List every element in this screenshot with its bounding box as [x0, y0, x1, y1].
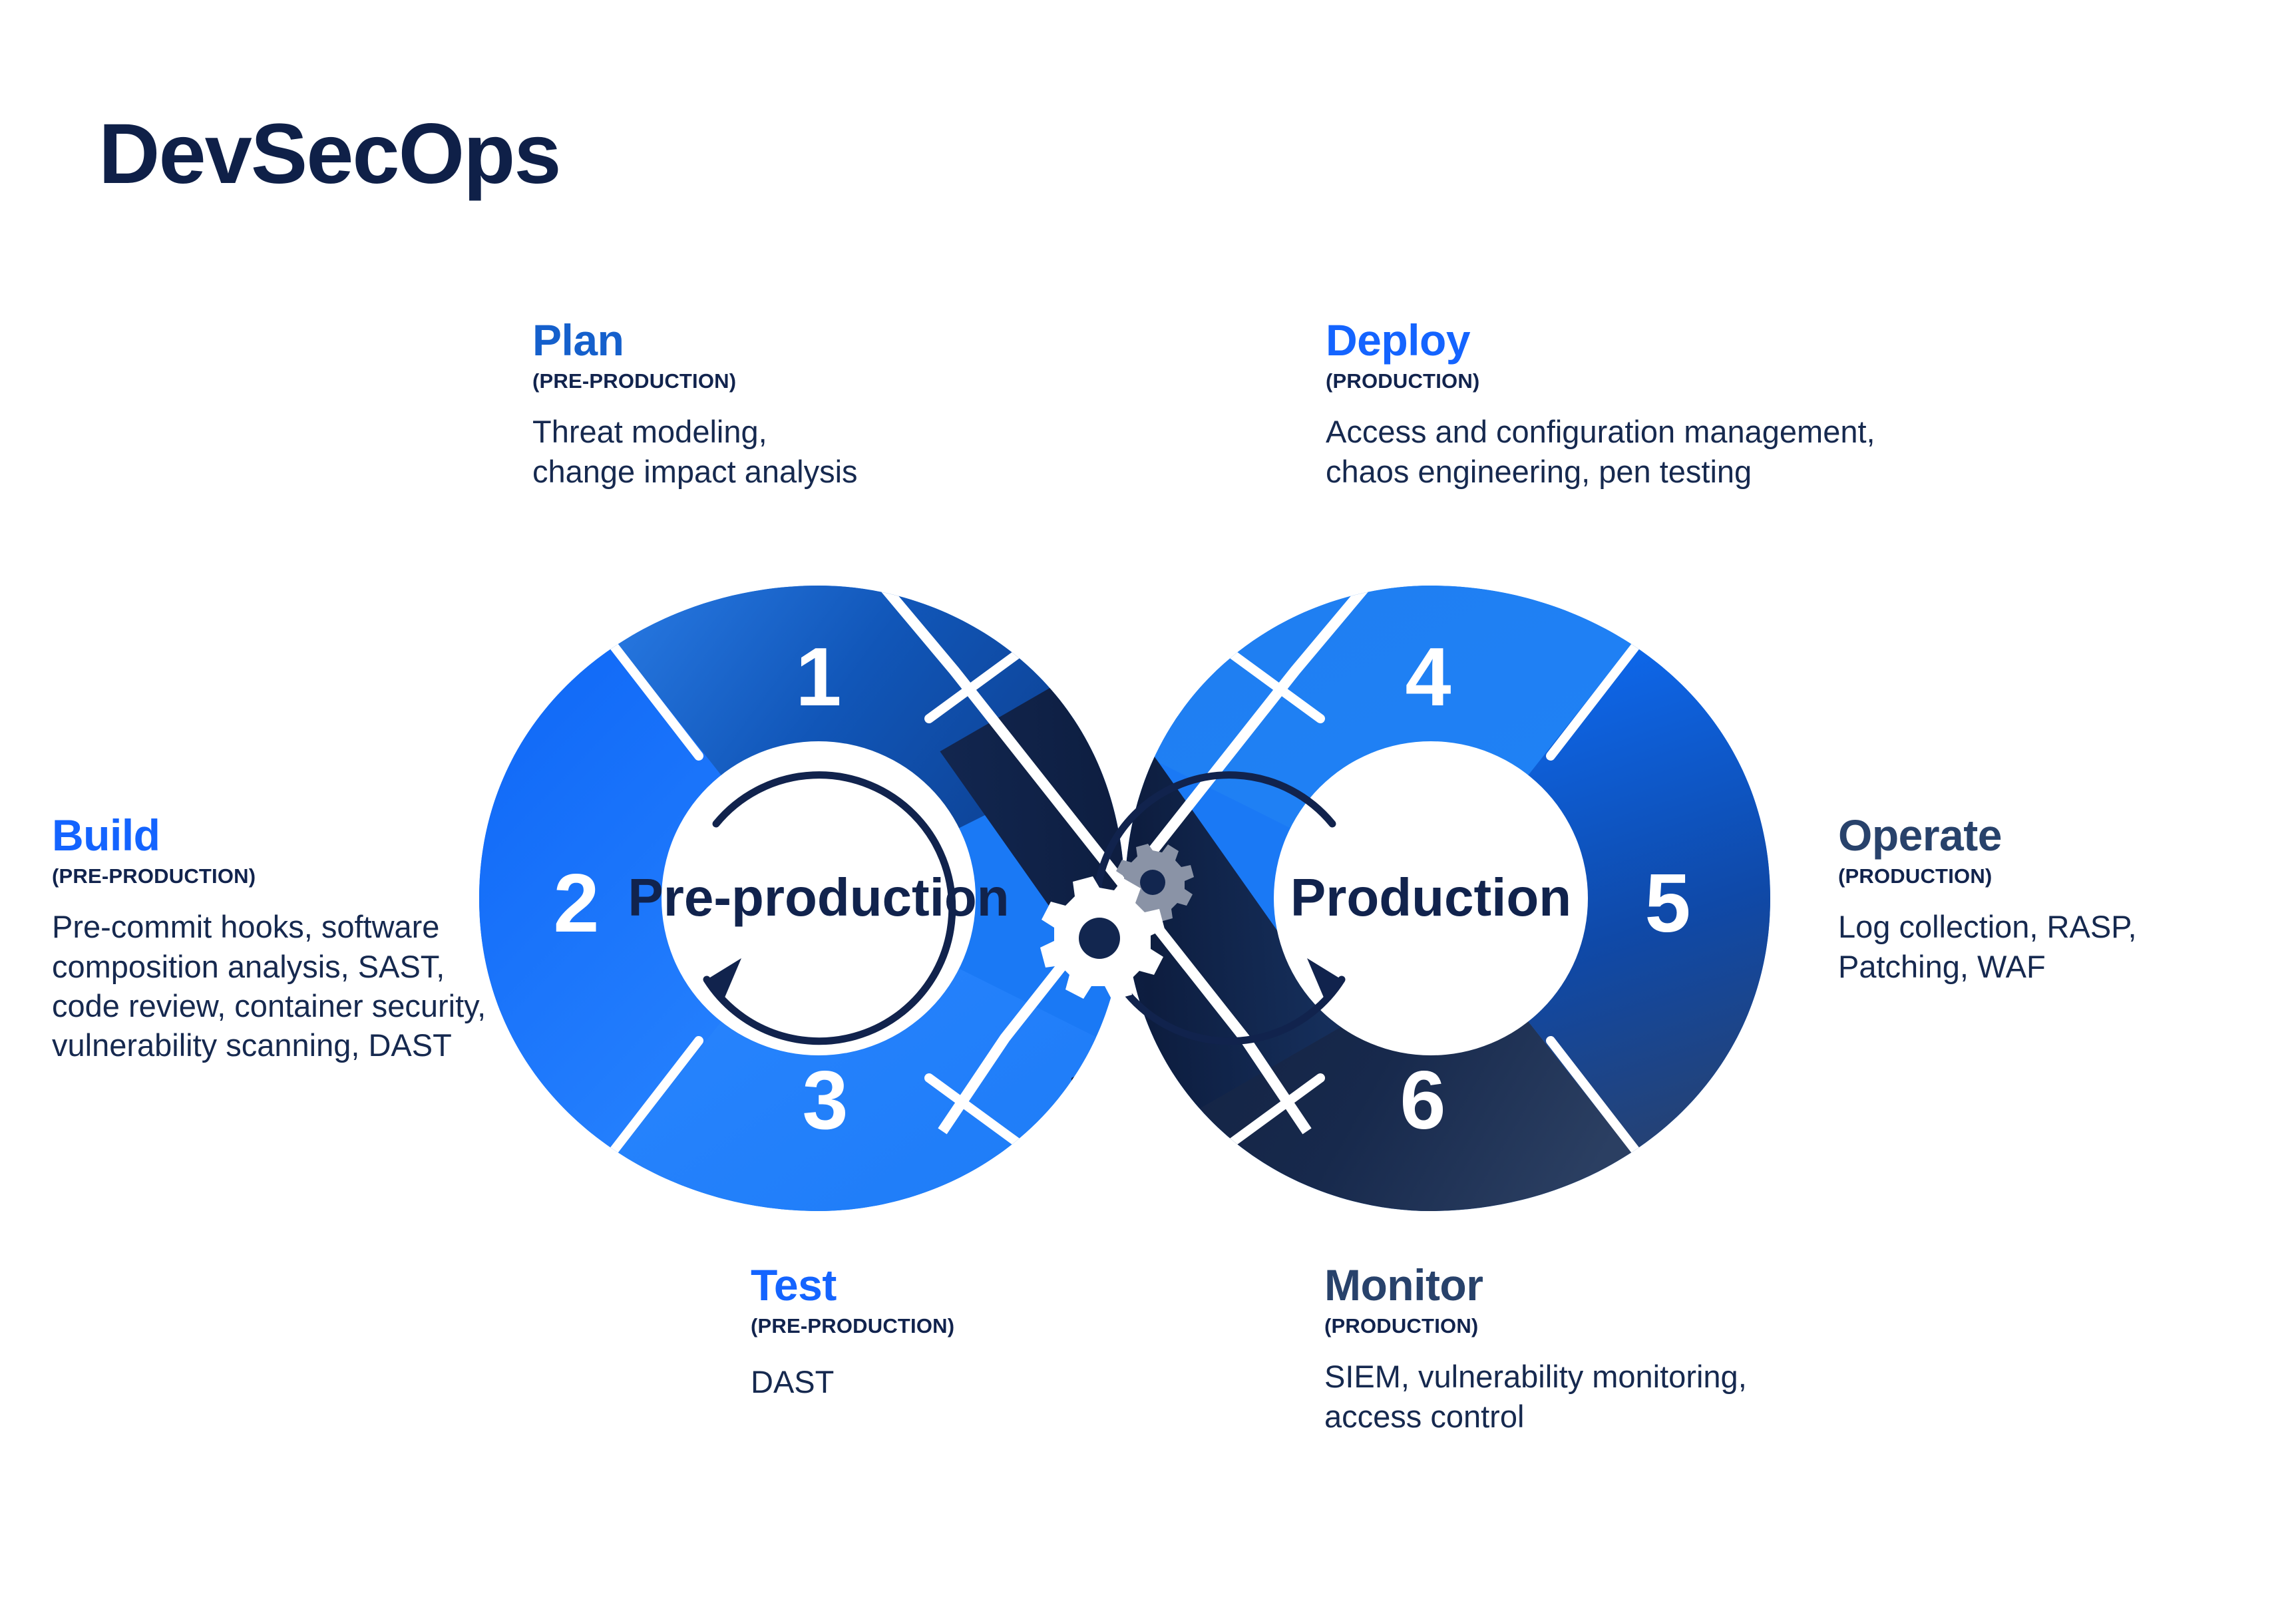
stage-test-description: DAST	[751, 1362, 954, 1401]
stage-monitor-env: (PRODUCTION)	[1324, 1314, 1747, 1338]
page-title: DevSecOps	[98, 112, 560, 197]
hub-right-label: Production	[1290, 868, 1571, 927]
stage-test-env: (PRE-PRODUCTION)	[751, 1314, 954, 1338]
stage-operate-env: (PRODUCTION)	[1838, 864, 2296, 888]
stage-plan-env: (PRE-PRODUCTION)	[532, 369, 858, 393]
stage-operate: Operate (PRODUCTION) Log collection, RAS…	[1838, 813, 2296, 986]
stage-deploy: Deploy (PRODUCTION) Access and configura…	[1326, 318, 1875, 491]
segment-number-1: 1	[796, 631, 842, 723]
devsecops-infinity-loop: Pre-production Production 1 2 3 4 5 6	[433, 559, 1817, 1238]
stage-monitor-description: SIEM, vulnerability monitoring, access c…	[1324, 1357, 1747, 1435]
segment-number-4: 4	[1406, 631, 1451, 723]
segment-number-2: 2	[554, 858, 600, 950]
segment-number-6: 6	[1400, 1055, 1446, 1147]
stage-deploy-env: (PRODUCTION)	[1326, 369, 1875, 393]
stage-plan-name: Plan	[532, 318, 858, 363]
stage-operate-description: Log collection, RASP, Patching, WAF	[1838, 907, 2296, 985]
stage-monitor: Monitor (PRODUCTION) SIEM, vulnerability…	[1324, 1263, 1747, 1436]
stage-test-name: Test	[751, 1263, 954, 1308]
stage-deploy-description: Access and configuration management, cha…	[1326, 412, 1875, 490]
segment-number-3: 3	[803, 1055, 849, 1147]
stage-monitor-name: Monitor	[1324, 1263, 1747, 1308]
stage-deploy-name: Deploy	[1326, 318, 1875, 363]
stage-plan: Plan (PRE-PRODUCTION) Threat modeling, c…	[532, 318, 858, 491]
stage-test: Test (PRE-PRODUCTION) DAST	[751, 1263, 954, 1402]
segment-number-5: 5	[1645, 858, 1691, 950]
hub-left-label: Pre-production	[628, 868, 1009, 927]
stage-operate-name: Operate	[1838, 813, 2296, 858]
stage-plan-description: Threat modeling, change impact analysis	[532, 412, 858, 490]
